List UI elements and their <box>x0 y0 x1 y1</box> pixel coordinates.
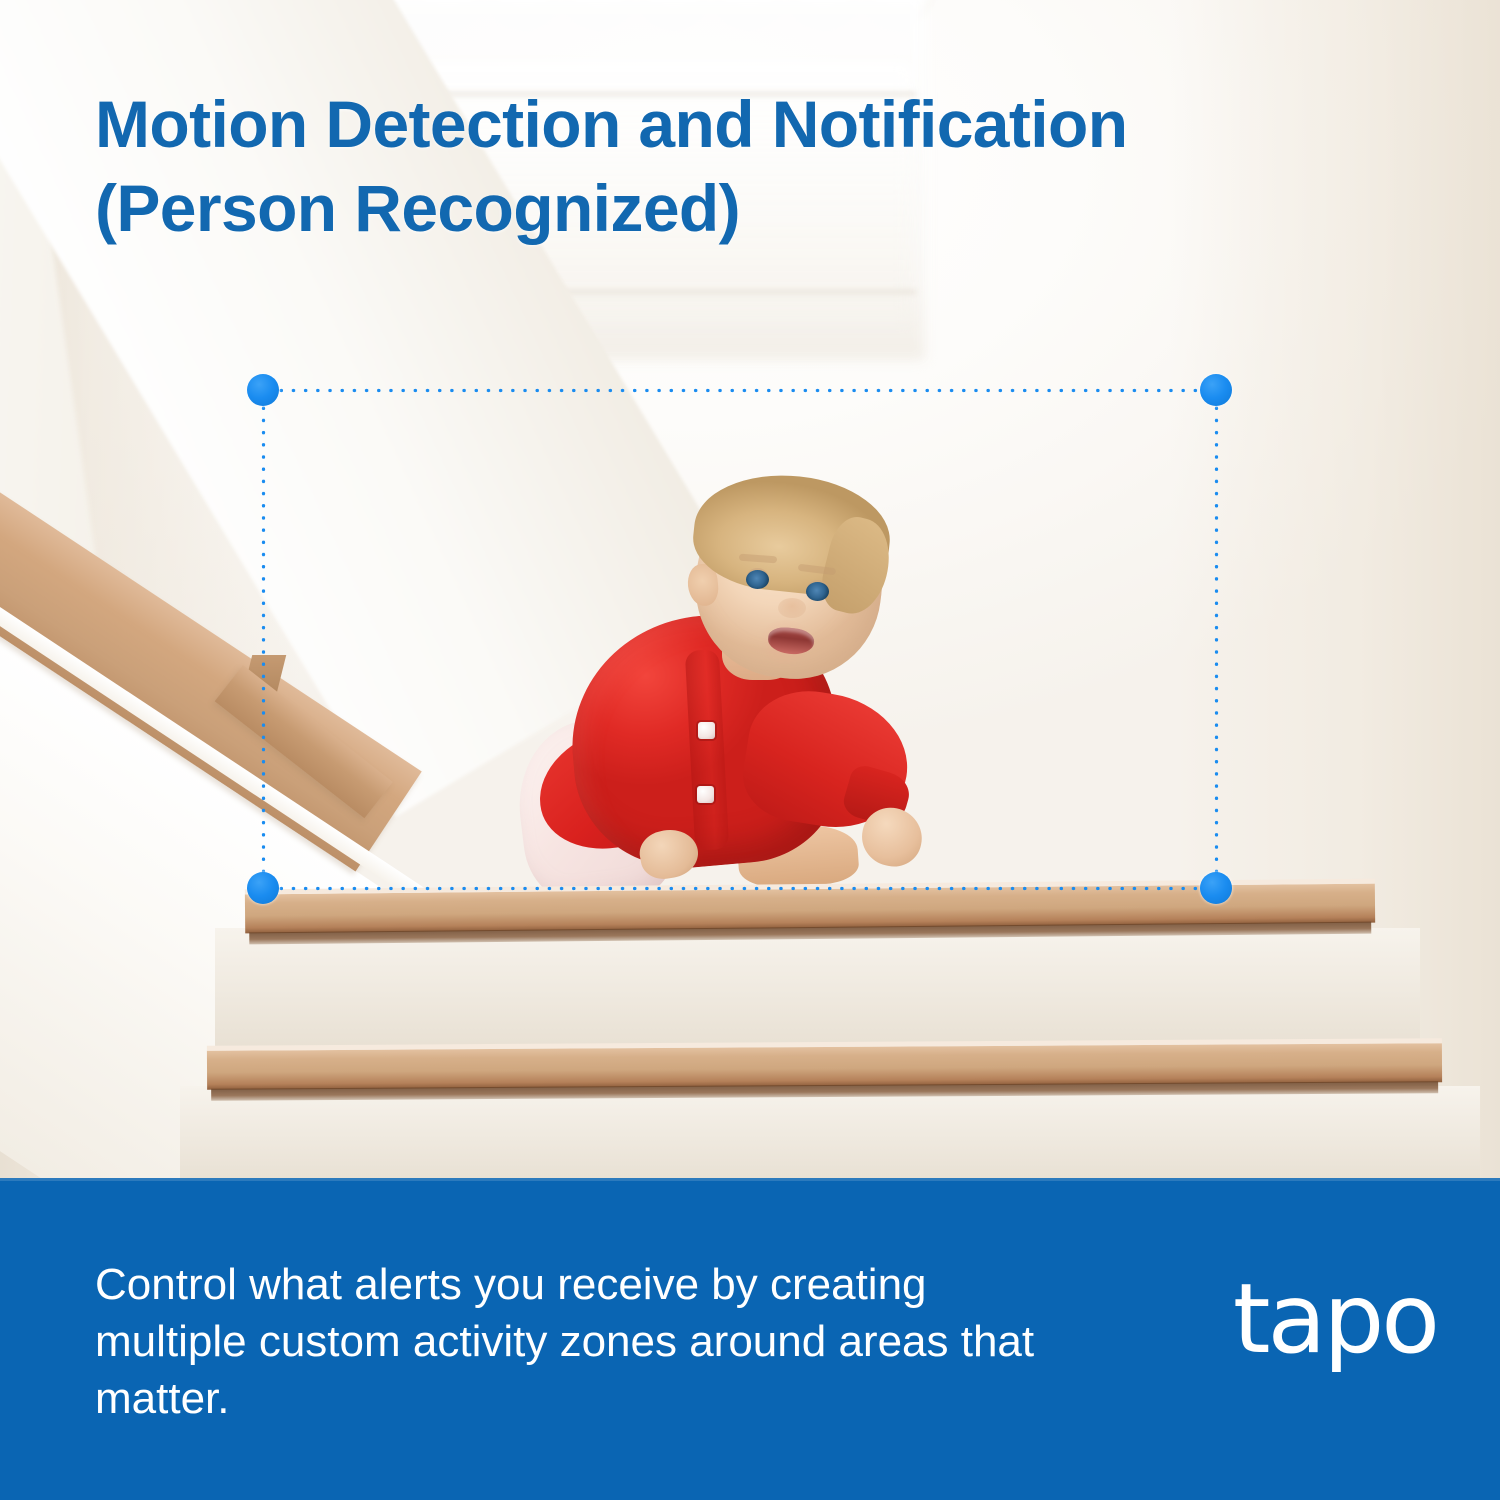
zone-edge-bottom[interactable] <box>263 885 1216 892</box>
footer-band: Control what alerts you receive by creat… <box>0 1178 1500 1500</box>
tapo-logo: tapo <box>1233 1271 1437 1367</box>
zone-handle-bottom-left[interactable] <box>247 872 279 904</box>
stair-nosing-lower <box>207 1038 1442 1090</box>
stair-riser-lower <box>180 1086 1480 1180</box>
camera-view-photo: Motion Detection and Notification (Perso… <box>0 0 1500 1180</box>
footer-top-divider <box>0 1178 1500 1181</box>
promo-page: Motion Detection and Notification (Perso… <box>0 0 1500 1500</box>
zone-handle-top-left[interactable] <box>247 374 279 406</box>
zone-handle-top-right[interactable] <box>1200 374 1232 406</box>
page-title: Motion Detection and Notification (Perso… <box>95 82 1275 250</box>
zone-edge-top[interactable] <box>263 387 1216 394</box>
zone-edge-left[interactable] <box>260 390 267 888</box>
zone-handle-bottom-right[interactable] <box>1200 872 1232 904</box>
footer-caption: Control what alerts you receive by creat… <box>95 1256 1095 1427</box>
activity-detection-zone[interactable] <box>263 390 1216 888</box>
stair-riser-upper <box>215 928 1420 1050</box>
zone-edge-right[interactable] <box>1213 390 1220 888</box>
